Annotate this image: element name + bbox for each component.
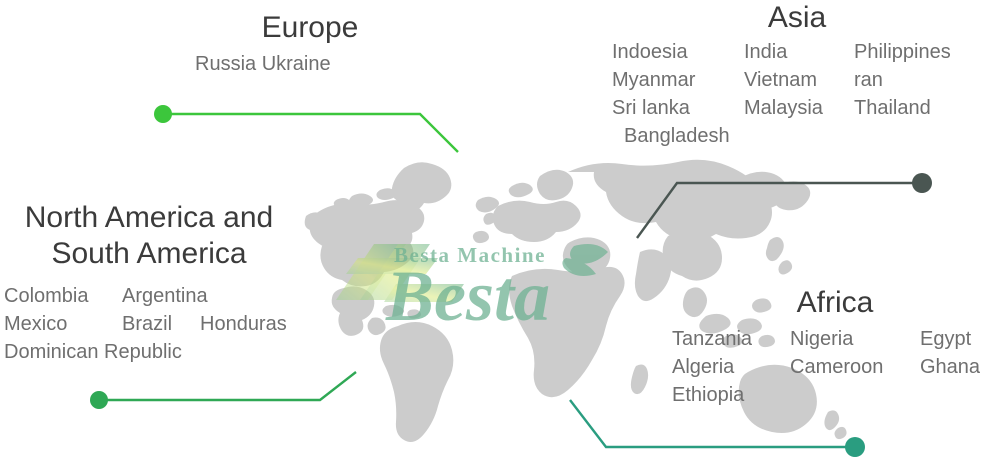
region-block-africa: Africa Tanzania Nigeria Egypt Algeria Ca… [672, 285, 1000, 409]
country-name: Sri lanka [612, 94, 744, 122]
country-name: Egypt [920, 325, 1000, 353]
country-row: Mexico Brazil Honduras [4, 310, 324, 338]
country-name: Russia Ukraine [195, 50, 331, 78]
country-row: Sri lanka Malaysia Thailand [612, 94, 992, 122]
country-name: Thailand [854, 94, 974, 122]
region-block-americas: North America and South America Colombia… [4, 200, 324, 366]
country-name: Dominican Republic [4, 338, 182, 366]
country-list-americas: Colombia Argentina Mexico Brazil Hondura… [4, 282, 324, 366]
marker-dot-asia [912, 173, 932, 193]
country-name: Brazil [122, 310, 200, 338]
region-title-asia: Asia [672, 0, 922, 36]
country-name: Mexico [4, 310, 122, 338]
country-name: Malaysia [744, 94, 854, 122]
region-block-asia: Asia Indoesia India Philippines Myanmar … [612, 0, 992, 150]
country-row: Colombia Argentina [4, 282, 324, 310]
country-row: Russia Ukraine [195, 50, 425, 78]
country-name: Tanzania [672, 325, 790, 353]
country-name: Indoesia [612, 38, 744, 66]
country-name: Algeria [672, 353, 790, 381]
world-distribution-infographic: Besta Machine Besta [0, 0, 1000, 459]
country-list-europe: Russia Ukraine [195, 50, 425, 78]
region-title-europe: Europe [195, 10, 425, 46]
country-row: Myanmar Vietnam ran [612, 66, 992, 94]
country-name: India [744, 38, 854, 66]
connector-europe [163, 114, 458, 152]
country-row: Ethiopia [672, 381, 1000, 409]
country-name: Honduras [200, 310, 310, 338]
country-name: Cameroon [790, 353, 920, 381]
country-name: Vietnam [744, 66, 854, 94]
region-title-africa: Africa [670, 285, 1000, 321]
marker-dot-europe [154, 105, 172, 123]
country-name: Nigeria [790, 325, 920, 353]
country-name: ran [854, 66, 974, 94]
region-block-europe: Europe Russia Ukraine [195, 10, 425, 78]
country-name: Ghana [920, 353, 1000, 381]
marker-dot-africa [845, 437, 865, 457]
country-name: Myanmar [612, 66, 744, 94]
marker-dot-americas [90, 391, 108, 409]
country-list-africa: Tanzania Nigeria Egypt Algeria Cameroon … [672, 325, 1000, 409]
country-row: Indoesia India Philippines [612, 38, 992, 66]
country-list-asia: Indoesia India Philippines Myanmar Vietn… [612, 38, 992, 150]
country-name: Colombia [4, 282, 122, 310]
country-row: Algeria Cameroon Ghana [672, 353, 1000, 381]
country-name: Bangladesh [612, 122, 730, 150]
country-name: Ethiopia [672, 381, 790, 409]
country-row: Dominican Republic [4, 338, 324, 366]
country-name: Philippines [854, 38, 974, 66]
country-name: Argentina [122, 282, 200, 310]
country-row: Bangladesh [612, 122, 992, 150]
connector-asia [637, 183, 922, 238]
connector-americas [99, 372, 356, 400]
region-title-americas: North America and South America [4, 200, 294, 272]
country-row: Tanzania Nigeria Egypt [672, 325, 1000, 353]
